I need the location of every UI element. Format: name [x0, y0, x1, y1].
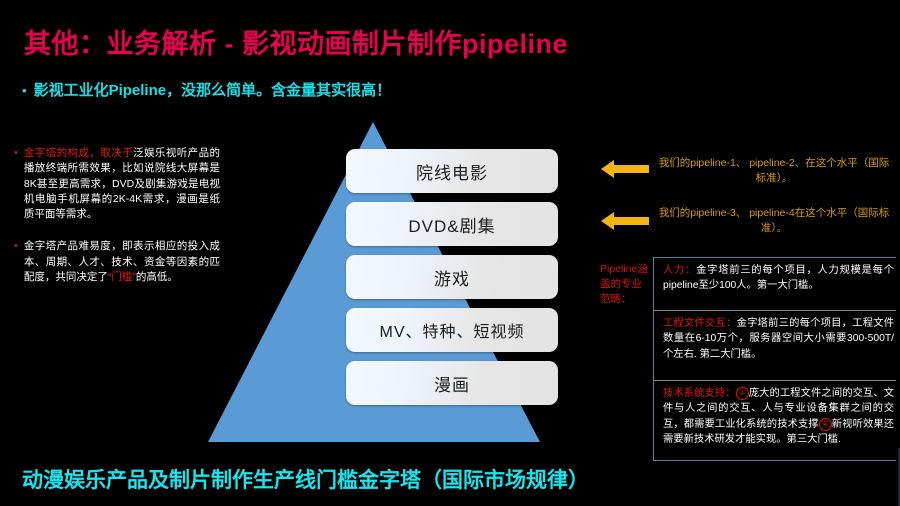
table-row[interactable]: 技术系统支持：①庞大的工程文件之间的交互、文件与人之间的交互、人与专业设备集群之… — [654, 381, 896, 459]
subtitle-bullet-icon: • — [22, 82, 27, 100]
row-3-num-2: ② — [819, 418, 832, 431]
pipeline-scope-table: Pipeline涵盖的专业范畴： 人力：金字塔前三的每个项目，人力规模是每个pi… — [600, 257, 895, 459]
subtitle-text: 影视工业化Pipeline，没那么简单。含金量其实很高！ — [34, 82, 392, 100]
row-1-header: 人力 — [663, 265, 685, 276]
row-2-sep: ： — [726, 318, 737, 329]
row-3-header: 技术系统支持 — [663, 388, 725, 399]
subtitle-bullet-row: • 影视工业化Pipeline，没那么简单。含金量其实很高！ — [22, 82, 391, 100]
right-note-2: 我们的pipeline-3、 pipeline-4在这个水平（国际标准）。 — [655, 206, 893, 236]
pyramid-diagram: 院线电影 DVD&剧集 游戏 MV、特种、短视频 漫画 — [180, 110, 600, 455]
pyramid-level-5-label: 漫画 — [434, 371, 470, 396]
bottom-caption: 动漫娱乐产品及制片制作生产线门槛金字塔（国际市场规律） — [22, 464, 589, 494]
table-row[interactable]: 工程文件交互：金字塔前三的每个项目，工程文件数量在6-10万个，服务器空间大小需… — [654, 311, 896, 381]
pyramid-level-1-label: 院线电影 — [416, 159, 488, 184]
row-3-num-1: ① — [736, 387, 749, 400]
table-row[interactable]: 人力：金字塔前三的每个项目，人力规模是每个pipeline至少100人。第一大门… — [654, 258, 896, 311]
pyramid-level-2-label: DVD&剧集 — [408, 212, 495, 237]
row-2-header: 工程文件交互 — [663, 318, 726, 329]
row-3-sep: ： — [725, 388, 735, 399]
bullet-dot-icon: • — [14, 146, 18, 222]
arrow-left-icon-level-2 — [601, 211, 649, 231]
pyramid-level-3-label: 游戏 — [434, 265, 470, 290]
left-bullet-highlight-2: “门槛” — [108, 271, 136, 283]
pipeline-scope-rows: 人力：金字塔前三的每个项目，人力规模是每个pipeline至少100人。第一大门… — [653, 257, 896, 461]
pyramid-level-1[interactable]: 院线电影 — [346, 149, 558, 193]
page-title: 其他：业务解析 - 影视动画制片制作pipeline — [24, 22, 568, 61]
left-bullet-text-2-tail: 的高低。 — [136, 271, 178, 283]
row-1-body: 金字塔前三的每个项目，人力规模是每个pipeline至少100人。第一大门槛。 — [663, 265, 894, 291]
left-bullet-highlight-1: 金字塔的构成，取决于 — [24, 147, 133, 159]
pyramid-level-3[interactable]: 游戏 — [346, 255, 558, 299]
slide-root: 其他：业务解析 - 影视动画制片制作pipeline • 影视工业化Pipeli… — [0, 0, 900, 506]
bullet-dot-icon: • — [14, 239, 18, 285]
pipeline-scope-label: Pipeline涵盖的专业范畴： — [600, 262, 650, 307]
right-note-1: 我们的pipeline-1、 pipeline-2、在这个水平（国际标准）。 — [655, 156, 893, 186]
arrow-left-icon-level-1 — [601, 159, 649, 179]
row-1-sep: ： — [685, 265, 696, 276]
pyramid-level-4[interactable]: MV、特种、短视频 — [346, 308, 558, 352]
pyramid-level-2[interactable]: DVD&剧集 — [346, 202, 558, 246]
pyramid-level-5[interactable]: 漫画 — [346, 361, 558, 405]
pyramid-level-4-label: MV、特种、短视频 — [379, 318, 524, 342]
